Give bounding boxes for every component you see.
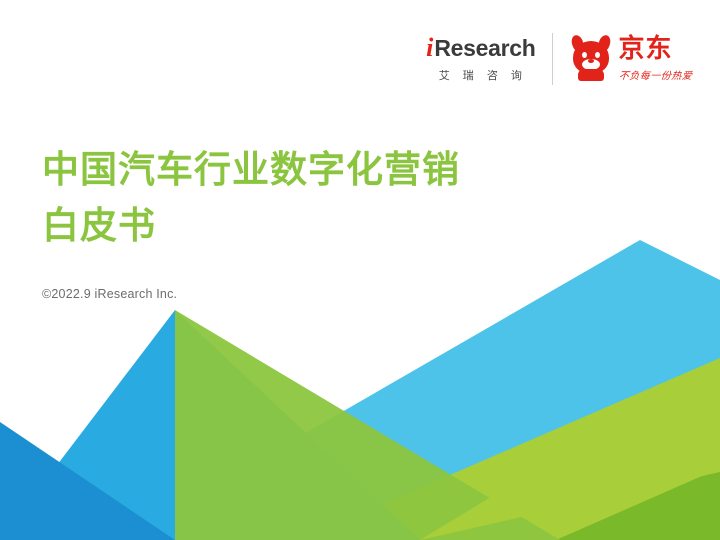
iresearch-wordmark: i Research <box>426 35 535 61</box>
cover-slide: i Research 艾 瑞 咨 询 京东 不负每一份热爱 <box>0 0 720 540</box>
jd-dog-mascot-icon <box>569 37 613 81</box>
dog-nose <box>588 59 594 63</box>
jd-text-block: 京东 不负每一份热爱 <box>619 36 693 82</box>
jd-brand-name: 京东 <box>619 36 673 62</box>
title-line-1: 中国汽车行业数字化营销 <box>42 142 642 198</box>
decorative-graphic <box>0 240 720 540</box>
jd-logo: 京东 不负每一份热爱 <box>553 36 693 82</box>
iresearch-i-letter: i <box>426 35 433 61</box>
iresearch-word: Research <box>434 37 535 60</box>
iresearch-subtitle: 艾 瑞 咨 询 <box>435 67 527 83</box>
iresearch-logo: i Research 艾 瑞 咨 询 <box>426 35 551 83</box>
jd-slogan: 不负每一份热爱 <box>618 67 693 82</box>
page-title: 中国汽车行业数字化营销 白皮书 <box>42 142 642 254</box>
dog-body <box>578 69 604 81</box>
logo-area: i Research 艾 瑞 咨 询 京东 不负每一份热爱 <box>426 28 692 90</box>
dog-eye-right <box>595 52 600 58</box>
dog-eye-left <box>582 52 587 58</box>
